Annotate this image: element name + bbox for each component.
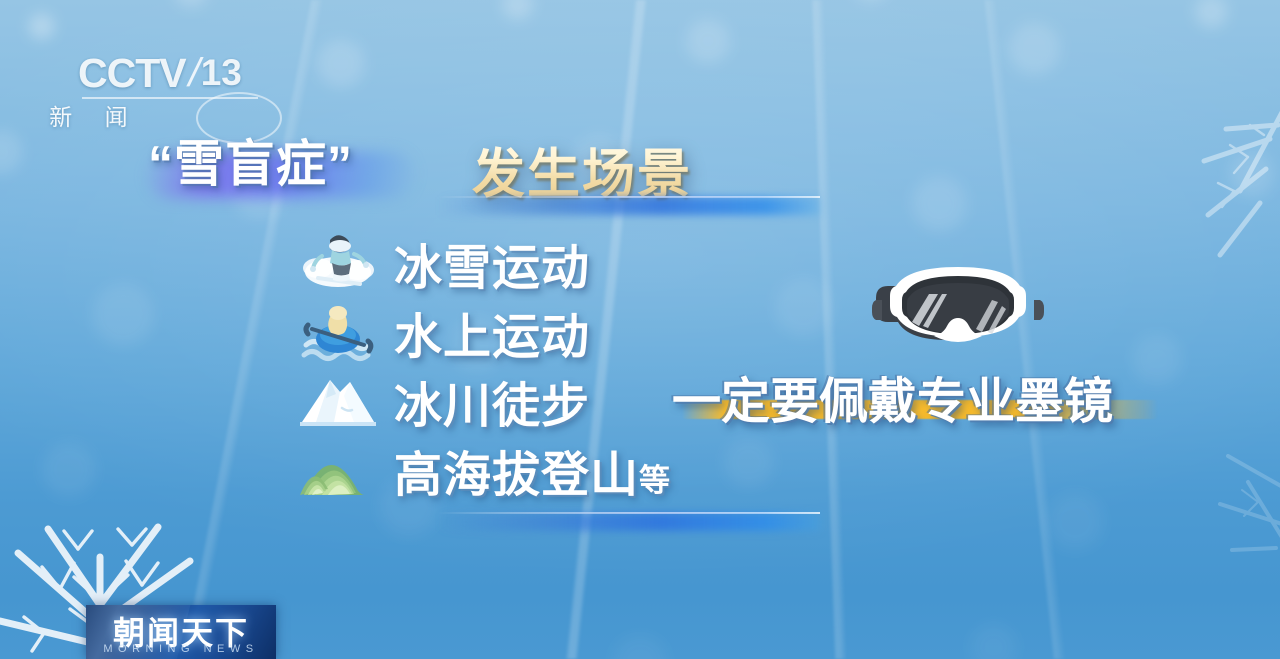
scenario-suffix: 等 — [639, 463, 670, 498]
list-item-label: 冰川徒步 — [394, 366, 590, 436]
broadcast-graphic: CCTV / 13 新 闻 “雪盲症” 发生场景 — [0, 0, 1280, 659]
scenario-text: 高海拔登山 — [394, 449, 639, 502]
logo-channel-number: 13 — [201, 52, 242, 94]
advice-callout: 一定要佩戴专业墨镜 — [672, 362, 1182, 434]
list-item-label: 高海拔登山等 — [394, 435, 670, 505]
scenario-list: 冰雪运动 水上运动 — [296, 226, 716, 502]
divider-glow — [438, 513, 820, 531]
green-mountain-icon — [296, 433, 380, 502]
list-item: 冰雪运动 — [296, 226, 716, 295]
kayaker-icon — [296, 295, 380, 364]
program-name-en: MORNING NEWS — [86, 643, 276, 655]
scenario-text: 水上运动 — [394, 311, 590, 364]
list-item: 水上运动 — [296, 295, 716, 364]
list-item-label: 冰雪运动 — [394, 228, 590, 298]
list-item: 冰川徒步 — [296, 364, 716, 433]
scenario-text: 冰川徒步 — [394, 380, 590, 433]
topic-headline: “雪盲症” — [140, 126, 440, 206]
scenario-text: 冰雪运动 — [394, 242, 590, 295]
skier-icon — [296, 226, 380, 295]
ski-goggles-icon — [866, 256, 1050, 352]
divider-top — [438, 196, 820, 218]
logo-channel-word: CCTV — [78, 50, 186, 97]
divider-bottom — [438, 512, 820, 534]
program-bug: 朝闻天下 MORNING NEWS — [86, 605, 276, 659]
list-item: 高海拔登山等 — [296, 433, 716, 502]
iceberg-icon — [296, 364, 380, 433]
advice-label: 一定要佩戴专业墨镜 — [672, 362, 1192, 433]
list-item-label: 水上运动 — [394, 297, 590, 367]
divider-glow — [438, 197, 820, 215]
topic-label: “雪盲症” — [148, 124, 438, 196]
